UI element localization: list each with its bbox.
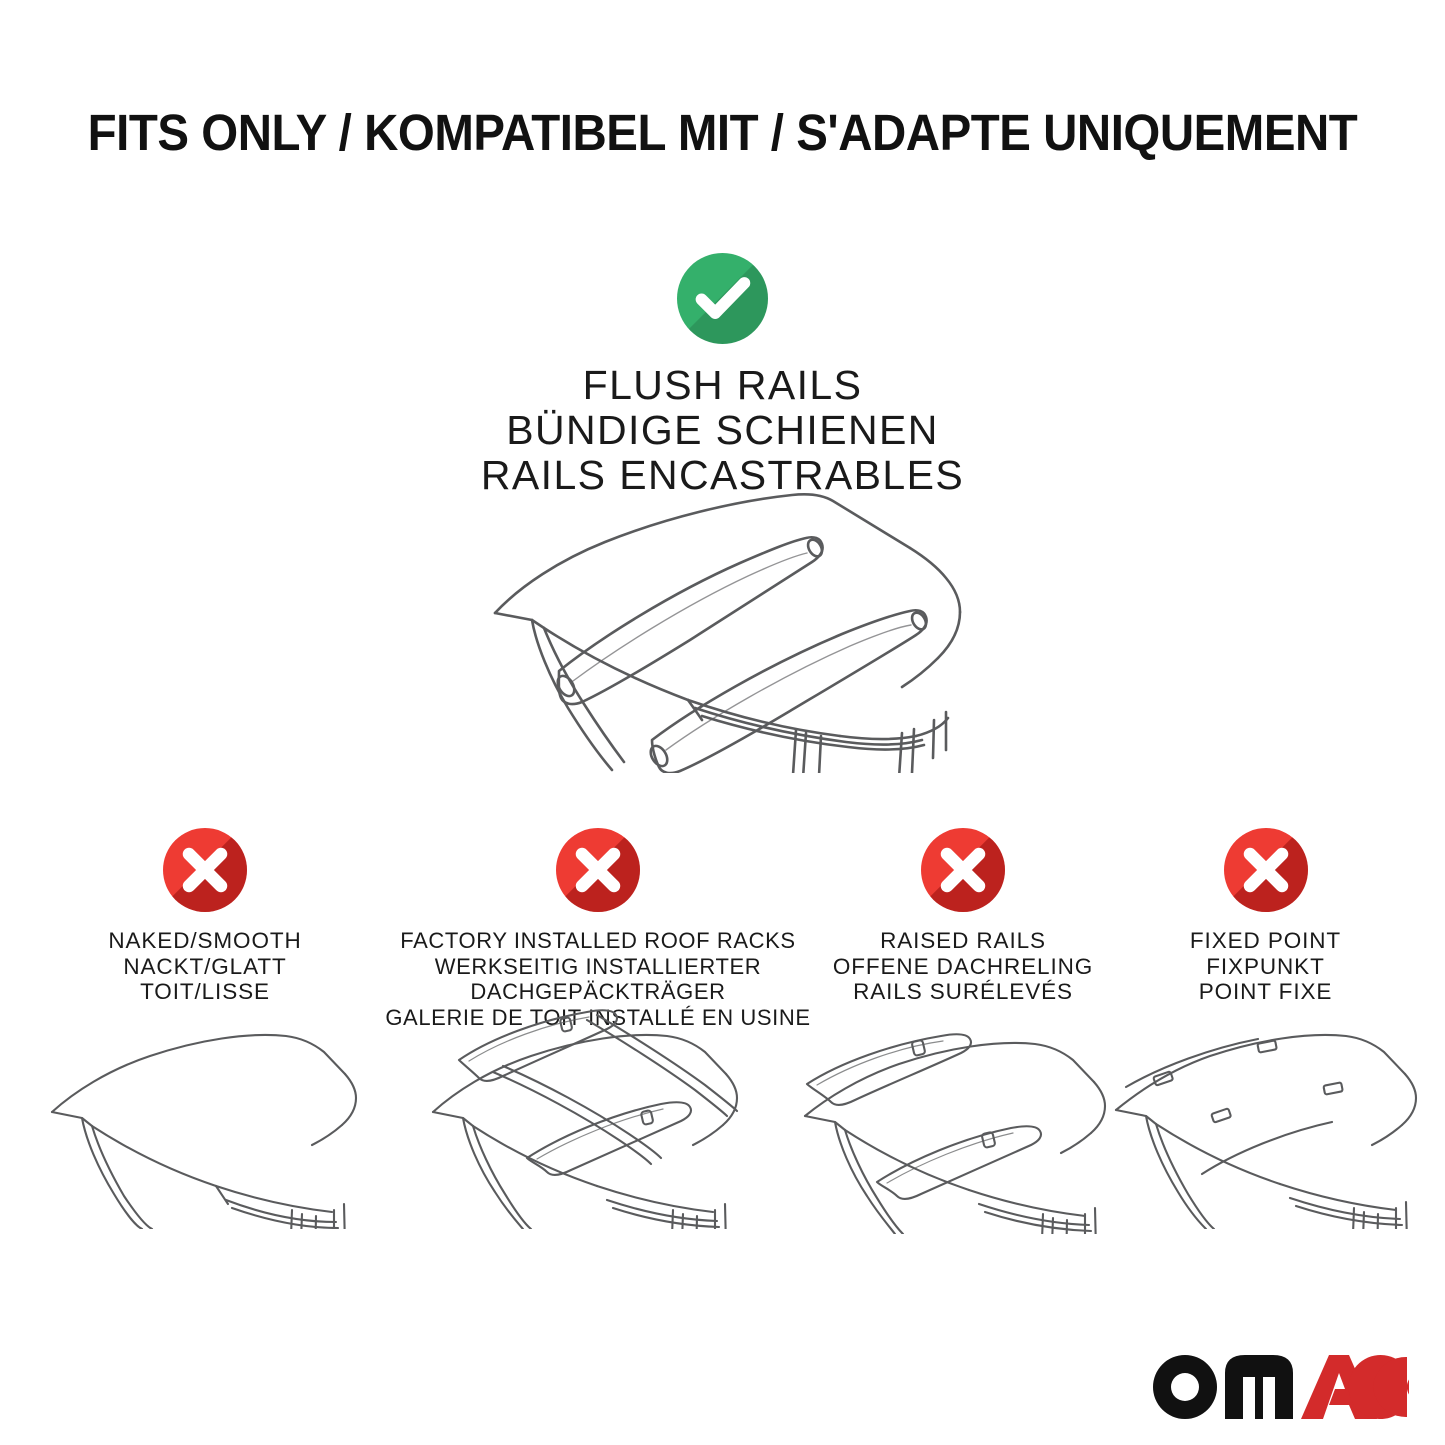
label-en: RAISED RAILS bbox=[823, 928, 1103, 954]
badge-wrap bbox=[35, 828, 375, 920]
column-labels: FIXED POINT FIXPUNKT POINT FIXE bbox=[1128, 928, 1403, 1005]
column-labels: NAKED/SMOOTH NACKT/GLATT TOIT/LISSE bbox=[35, 928, 375, 1005]
x-circle-icon bbox=[163, 828, 247, 912]
incompatible-column-fixed-point: FIXED POINT FIXPUNKT POINT FIXE bbox=[1128, 828, 1403, 1005]
car-roof-naked-smooth-illustration bbox=[40, 1014, 370, 1234]
label-de: OFFENE DACHRELING bbox=[823, 954, 1103, 980]
omac-logo: OMAC bbox=[1149, 1351, 1409, 1423]
x-circle-icon bbox=[921, 828, 1005, 912]
incompatible-column-raised-rails: RAISED RAILS OFFENE DACHRELING RAILS SUR… bbox=[823, 828, 1103, 1005]
column-labels: RAISED RAILS OFFENE DACHRELING RAILS SUR… bbox=[823, 928, 1103, 1005]
label-en: NAKED/SMOOTH bbox=[35, 928, 375, 954]
badge-wrap bbox=[1128, 828, 1403, 920]
compatible-badge-wrap bbox=[0, 253, 1445, 345]
label-fr: TOIT/LISSE bbox=[35, 979, 375, 1005]
x-circle-icon bbox=[556, 828, 640, 912]
label-fr: RAILS SURÉLEVÉS bbox=[823, 979, 1103, 1005]
car-roof-raised-rails-illustration bbox=[793, 1014, 1133, 1239]
page-title: FITS ONLY / KOMPATIBEL MIT / S'ADAPTE UN… bbox=[51, 103, 1395, 162]
compatible-label-en: FLUSH RAILS bbox=[0, 363, 1445, 408]
compatible-label-de: BÜNDIGE SCHIENEN bbox=[0, 408, 1445, 453]
car-roof-with-flush-rails-illustration bbox=[440, 468, 1050, 773]
car-roof-fixed-point-illustration bbox=[1106, 1014, 1426, 1234]
x-circle-icon bbox=[1224, 828, 1308, 912]
badge-wrap bbox=[375, 828, 821, 920]
compatible-section: FLUSH RAILS BÜNDIGE SCHIENEN RAILS ENCAS… bbox=[0, 253, 1445, 498]
car-roof-factory-roof-racks-illustration bbox=[423, 994, 773, 1234]
incompatible-column-naked-smooth: NAKED/SMOOTH NACKT/GLATT TOIT/LISSE bbox=[35, 828, 375, 1005]
label-en: FIXED POINT bbox=[1128, 928, 1403, 954]
label-de-1: WERKSEITIG INSTALLIERTER bbox=[375, 954, 821, 980]
check-circle-icon bbox=[677, 253, 768, 344]
badge-wrap bbox=[823, 828, 1103, 920]
label-de: FIXPUNKT bbox=[1128, 954, 1403, 980]
incompatible-column-factory-roof-racks: FACTORY INSTALLED ROOF RACKS WERKSEITIG … bbox=[375, 828, 821, 1030]
label-de: NACKT/GLATT bbox=[35, 954, 375, 980]
label-fr: POINT FIXE bbox=[1128, 979, 1403, 1005]
label-en: FACTORY INSTALLED ROOF RACKS bbox=[375, 928, 821, 954]
